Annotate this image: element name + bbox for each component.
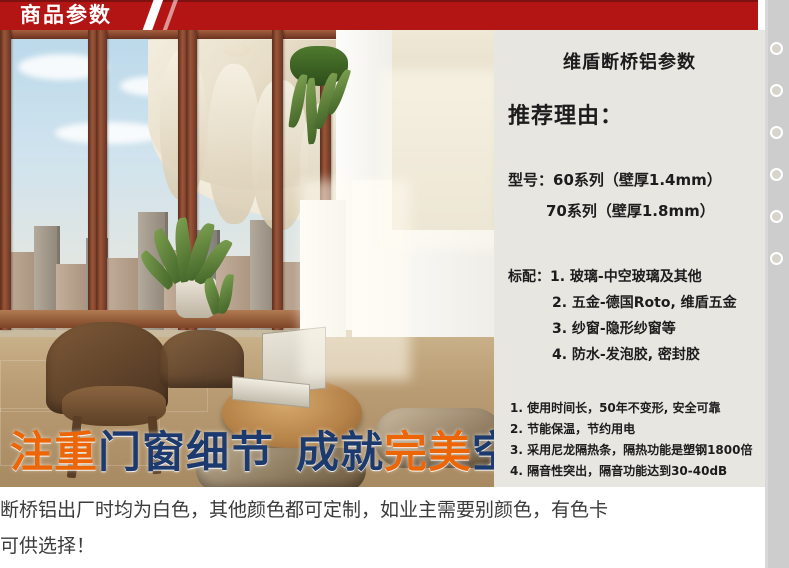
standard-line-4: 4. 防水-发泡胶, 密封胶: [508, 342, 737, 368]
feature-item: 1. 使用时间长，50年不变形, 安全可靠: [510, 398, 765, 419]
bottom-description: 断桥铝出厂时均为白色，其他颜色都可定制，如业主需要别颜色，有色卡 可供选择！: [0, 492, 775, 564]
binder-hole-icon: [770, 210, 783, 223]
binder-strip: [765, 0, 789, 568]
bottom-description-line-2: 可供选择！: [0, 528, 775, 564]
window-frame-vertical: [272, 30, 283, 330]
standard-item-2: 2. 五金-德国Roto, 维盾五金: [552, 295, 737, 311]
spec-panel: 维盾断桥铝参数 推荐理由： 型号：60系列（壁厚1.4mm） 70系列（壁厚1.…: [494, 30, 765, 487]
binder-hole-icon: [770, 168, 783, 181]
feature-item: 4. 隔音性突出，隔音功能达到30-40dB: [510, 461, 765, 482]
slogan-text: 注重门窗细节成就完美空间: [10, 427, 494, 479]
slogan-part-2: 门窗细节: [98, 428, 274, 478]
standard-item-4: 4. 防水-发泡胶, 密封胶: [552, 347, 700, 363]
model-block: 型号：60系列（壁厚1.4mm） 70系列（壁厚1.8mm）: [508, 165, 722, 227]
feature-list: 1. 使用时间长，50年不变形, 安全可靠 2. 节能保温，节约用电 3. 采用…: [510, 398, 765, 482]
product-image-composite: 注重门窗细节成就完美空间 维盾断桥铝参数 推荐理由： 型号：60系列（壁厚1.4…: [0, 30, 765, 487]
slogan-part-5: 空间: [472, 428, 494, 478]
binder-hole-icon: [770, 252, 783, 265]
feature-item: 3. 采用尼龙隔热条，隔热功能是塑钢1800倍: [510, 440, 765, 461]
model-value-2: 70系列（壁厚1.8mm）: [546, 202, 715, 220]
feature-item: 2. 节能保温，节约用电: [510, 419, 765, 440]
slogan-part-4: 完美: [384, 428, 472, 478]
recommend-reason-label: 推荐理由：: [508, 98, 623, 130]
spec-panel-title: 维盾断桥铝参数: [494, 48, 765, 74]
binder-hole-icon: [770, 126, 783, 139]
slogan-part-1: 注重: [10, 428, 98, 478]
standard-config-block: 标配：1. 玻璃-中空玻璃及其他 2. 五金-德国Roto, 维盾五金 3. 纱…: [508, 264, 737, 368]
model-value-1: 60系列（壁厚1.4mm）: [553, 171, 722, 189]
light-glow: [380, 70, 494, 250]
slogan-part-3: 成就: [296, 428, 384, 478]
balcony-photo: 注重门窗细节成就完美空间: [0, 30, 494, 487]
binder-hole-icon: [770, 84, 783, 97]
model-line-2: 70系列（壁厚1.8mm）: [508, 196, 722, 227]
standard-line-3: 3. 纱窗-隐形纱窗等: [508, 316, 737, 342]
standard-line-2: 2. 五金-德国Roto, 维盾五金: [508, 290, 737, 316]
banner-diagonal-stripe: [140, 0, 165, 30]
model-line-1: 型号：60系列（壁厚1.4mm）: [508, 165, 722, 196]
standard-label: 标配：: [508, 269, 550, 285]
section-header-banner: 商品参数: [0, 0, 758, 30]
model-label: 型号：: [508, 171, 553, 189]
binder-hole-icon: [770, 42, 783, 55]
window-frame-vertical: [0, 30, 11, 330]
binder-strip-highlight: [765, 0, 768, 568]
window-frame-vertical: [96, 30, 107, 330]
banner-diagonal-stripe-secondary: [160, 0, 180, 30]
standard-item-3: 3. 纱窗-隐形纱窗等: [552, 321, 676, 337]
page-title: 商品参数: [20, 1, 112, 30]
standard-item-1: 1. 玻璃-中空玻璃及其他: [550, 269, 702, 285]
product-spec-page: 商品参数: [0, 0, 789, 568]
bottom-description-line-1: 断桥铝出厂时均为白色，其他颜色都可定制，如业主需要别颜色，有色卡: [0, 492, 775, 528]
standard-line-1: 标配：1. 玻璃-中空玻璃及其他: [508, 264, 737, 290]
banner-top-rule: [0, 0, 758, 2]
